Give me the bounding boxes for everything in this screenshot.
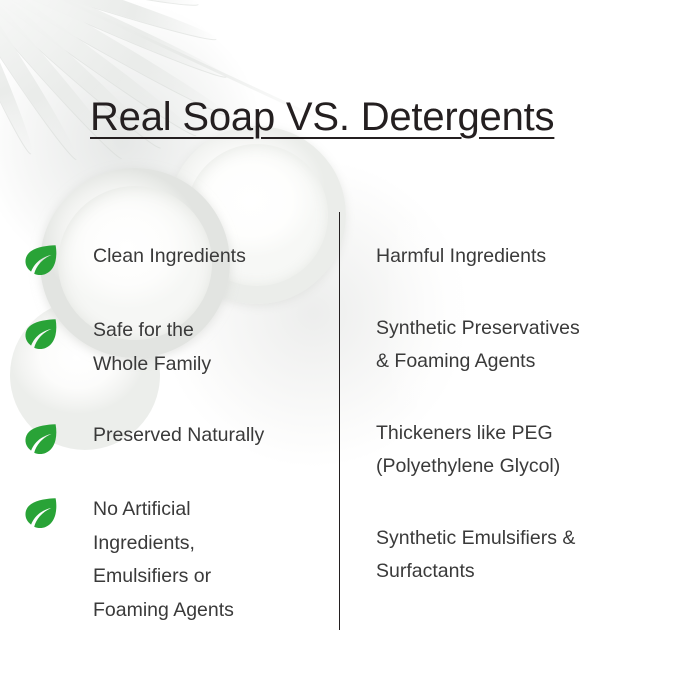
list-item-label: Synthetic Preservatives & Foaming Agents xyxy=(376,312,580,379)
leaf-icon xyxy=(24,423,58,455)
list-item: Synthetic Emulsifiers & Surfactants xyxy=(376,522,666,589)
list-item: Synthetic Preservatives & Foaming Agents xyxy=(376,312,666,379)
list-item-label: No Artificial Ingredients, Emulsifiers o… xyxy=(93,493,234,627)
leaf-icon xyxy=(24,318,58,350)
leaf-icon xyxy=(24,244,58,276)
list-item: Clean Ingredients xyxy=(24,240,324,276)
list-item: Harmful Ingredients xyxy=(376,240,666,274)
column-real-soap: Clean Ingredients Safe for the Whole Fam… xyxy=(24,240,324,665)
list-item: Safe for the Whole Family xyxy=(24,314,324,381)
comparison-graphic: Real Soap VS. Detergents Clean Ingredien… xyxy=(0,0,679,679)
frond-blade xyxy=(0,0,219,47)
list-item-label: Harmful Ingredients xyxy=(376,240,546,274)
page-title: Real Soap VS. Detergents xyxy=(90,95,554,140)
list-item: Thickeners like PEG (Polyethylene Glycol… xyxy=(376,417,666,484)
list-item-label: Thickeners like PEG (Polyethylene Glycol… xyxy=(376,417,560,484)
column-divider xyxy=(339,212,340,630)
frond-blade xyxy=(0,0,84,164)
list-item: Preserved Naturally xyxy=(24,419,324,455)
leaf-icon xyxy=(24,497,58,529)
frond-blade xyxy=(0,0,230,84)
frond-blade xyxy=(0,0,40,157)
list-item-label: Preserved Naturally xyxy=(93,419,264,453)
list-item: No Artificial Ingredients, Emulsifiers o… xyxy=(24,493,324,627)
column-detergents: Harmful Ingredients Synthetic Preservati… xyxy=(376,240,666,627)
list-item-label: Clean Ingredients xyxy=(93,240,246,274)
frond-blade xyxy=(0,0,200,12)
list-item-label: Synthetic Emulsifiers & Surfactants xyxy=(376,522,575,589)
list-item-label: Safe for the Whole Family xyxy=(93,314,211,381)
